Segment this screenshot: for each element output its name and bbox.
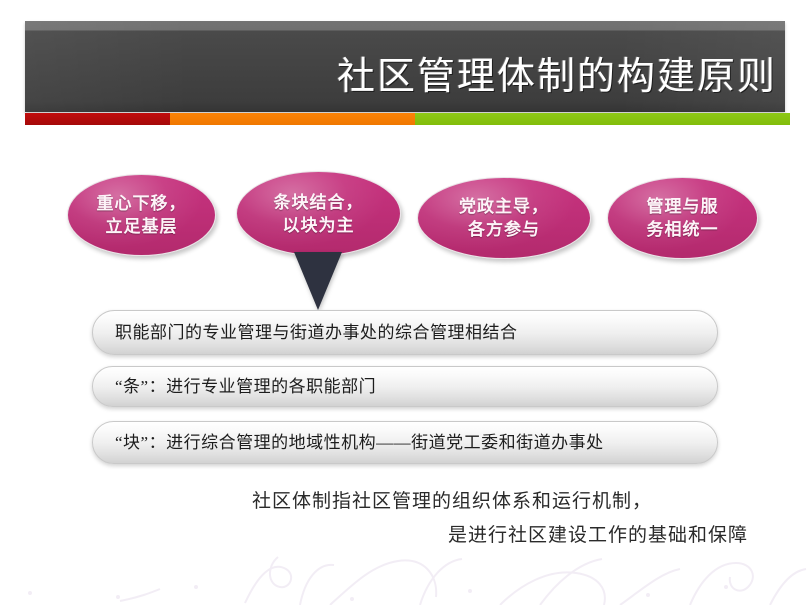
detail-bar-2-label: “条”：进行专业管理的各职能部门 xyxy=(93,376,376,398)
detail-bar-2[interactable]: “条”：进行专业管理的各职能部门 xyxy=(92,366,718,407)
detail-bar-1[interactable]: 职能部门的专业管理与街道办事处的综合管理相结合 xyxy=(92,310,718,355)
principle-ellipse-1[interactable]: 重心下移， 立足基层 xyxy=(67,174,216,256)
page-title: 社区管理体制的构建原则 xyxy=(337,54,777,100)
slide-canvas: 社区管理体制的构建原则 重心下移， 立足基层 条块结合， 以块为主 党政主导， … xyxy=(0,0,807,605)
principle-ellipse-2[interactable]: 条块结合， 以块为主 xyxy=(236,171,401,256)
header-banner: 社区管理体制的构建原则 xyxy=(25,21,785,112)
detail-bar-3[interactable]: “块”：进行综合管理的地域性机构——街道党工委和街道办事处 xyxy=(92,421,718,464)
divider-segment-red xyxy=(25,113,170,125)
footnote-text: 社区体制指社区管理的组织体系和运行机制， 是进行社区建设工作的基础和保障 xyxy=(240,485,760,553)
principle-ellipse-4-label: 管理与服 务相统一 xyxy=(647,195,719,241)
principle-ellipse-4[interactable]: 管理与服 务相统一 xyxy=(607,177,758,259)
detail-bar-1-label: 职能部门的专业管理与街道办事处的综合管理相结合 xyxy=(93,322,518,344)
footnote-line-1: 社区体制指社区管理的组织体系和运行机制， xyxy=(240,485,760,519)
tricolor-divider xyxy=(25,113,790,125)
principle-ellipse-1-label: 重心下移， 立足基层 xyxy=(97,192,187,238)
divider-segment-green xyxy=(415,113,790,125)
divider-segment-orange xyxy=(170,113,415,125)
triangle-down-icon xyxy=(294,252,342,310)
principle-ellipse-3-label: 党政主导， 各方参与 xyxy=(459,195,549,241)
principle-ellipse-2-label: 条块结合， 以块为主 xyxy=(274,191,364,237)
detail-bar-3-label: “块”：进行综合管理的地域性机构——街道党工委和街道办事处 xyxy=(93,432,604,454)
principle-ellipse-3[interactable]: 党政主导， 各方参与 xyxy=(417,177,591,259)
footnote-line-2: 是进行社区建设工作的基础和保障 xyxy=(240,519,760,553)
